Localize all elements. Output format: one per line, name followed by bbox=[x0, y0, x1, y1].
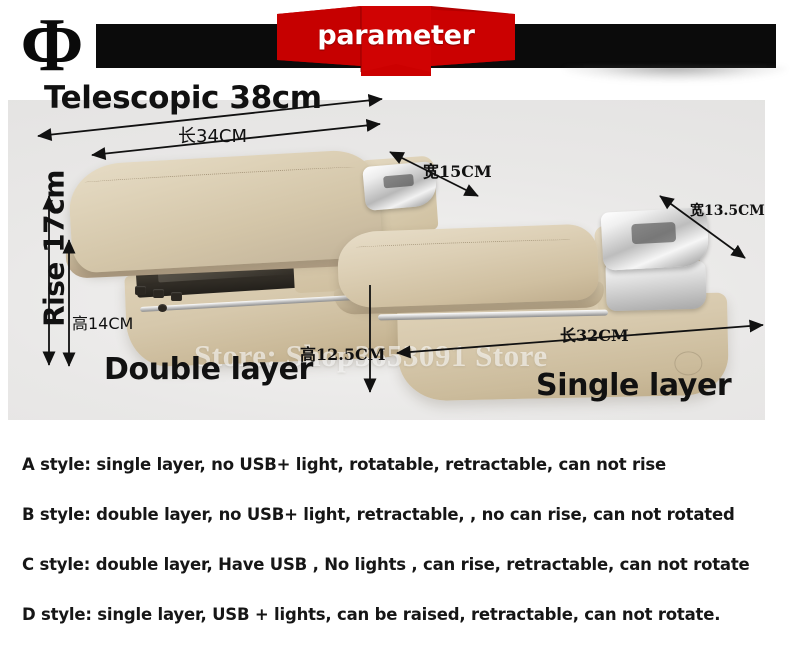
style-description-c: C style: double layer, Have USB , No lig… bbox=[22, 555, 750, 574]
label-length-34cm: 长34CM bbox=[178, 122, 247, 148]
power-socket-icon bbox=[158, 304, 167, 312]
parameter-label: parameter bbox=[277, 20, 515, 51]
ribbon-shadow bbox=[564, 66, 786, 82]
header-banner: Φ parameter bbox=[0, 0, 790, 92]
label-single-layer: Single layer bbox=[536, 368, 731, 403]
usb-port-icon bbox=[171, 292, 182, 301]
label-telescopic-38cm: Telescopic 38cm bbox=[44, 80, 322, 116]
usb-port-icon bbox=[135, 286, 146, 295]
label-double-layer: Double layer bbox=[104, 352, 313, 387]
label-width-13-5cm: 宽13.5CM bbox=[690, 200, 765, 220]
style-description-list: A style: single layer, no USB+ light, ro… bbox=[0, 440, 790, 667]
style-description-b: B style: double layer, no USB+ light, re… bbox=[22, 505, 735, 524]
style-description-a: A style: single layer, no USB+ light, ro… bbox=[22, 455, 666, 474]
double-layer-lid bbox=[67, 148, 383, 273]
label-rise-17cm: Rise 17cm bbox=[38, 169, 71, 329]
label-width-15cm: 宽15CM bbox=[423, 158, 492, 182]
brand-logo-icon: Φ bbox=[20, 13, 82, 79]
usb-port-icon bbox=[153, 289, 164, 298]
label-length-32cm: 长32CM bbox=[560, 322, 629, 346]
parameter-ribbon: parameter bbox=[277, 6, 515, 76]
single-layer-lid bbox=[337, 223, 599, 308]
label-height-14cm: 高14CM bbox=[72, 310, 133, 334]
style-description-d: D style: single layer, USB + lights, can… bbox=[22, 605, 720, 624]
